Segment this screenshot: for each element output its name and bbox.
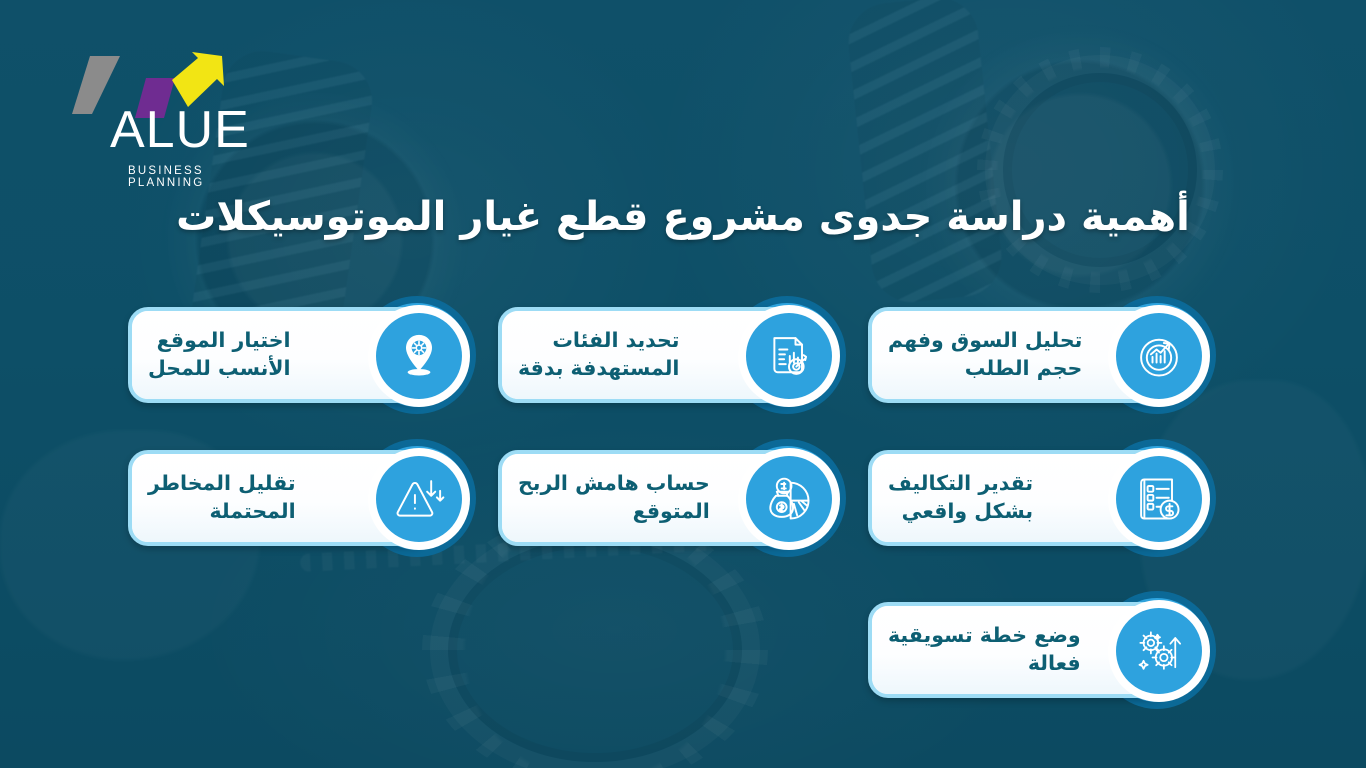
card-label-line1: حساب هامش الربح [518, 470, 710, 498]
card-label-line1: وضع خطة تسويقية [888, 622, 1081, 650]
pie-money-bag-icon [746, 456, 832, 542]
card-label: وضع خطة تسويقيةفعالة [884, 602, 1108, 698]
chart-donut-bars-icon [1116, 313, 1202, 399]
benefit-card-marketing-plan[interactable]: وضع خطة تسويقيةفعالة [868, 591, 1216, 709]
gears-up-arrow-icon [1116, 608, 1202, 694]
infographic-canvas: ALUE BUSINESS PLANNING أهمية دراسة جدوى … [0, 0, 1366, 768]
card-label: تحديد الفئاتالمستهدفة بدقة [514, 307, 738, 403]
card-label-line1: تقليل المخاطر [148, 470, 296, 498]
card-label-line2: المتوقع [518, 498, 710, 526]
brand-logo: ALUE BUSINESS PLANNING [72, 52, 272, 167]
card-label: تقليل المخاطرالمحتملة [144, 450, 368, 546]
card-label: حساب هامش الربحالمتوقع [514, 450, 738, 546]
document-target-icon [746, 313, 832, 399]
card-label-line1: تقدير التكاليف [888, 470, 1033, 498]
checklist-dollar-icon [1116, 456, 1202, 542]
card-label: تحليل السوق وفهمحجم الطلب [884, 307, 1108, 403]
benefit-card-location-choice[interactable]: اختيار الموقعالأنسب للمحل [128, 296, 476, 414]
card-label-line2: بشكل واقعي [888, 498, 1033, 526]
page-title: أهمية دراسة جدوى مشروع قطع غيار الموتوسي… [0, 192, 1366, 242]
card-label-line2: المستهدفة بدقة [518, 355, 679, 383]
benefit-card-target-audience[interactable]: تحديد الفئاتالمستهدفة بدقة [498, 296, 846, 414]
card-label-line1: تحليل السوق وفهم [888, 327, 1082, 355]
benefit-card-market-analysis[interactable]: تحليل السوق وفهمحجم الطلب [868, 296, 1216, 414]
card-label-line1: تحديد الفئات [518, 327, 679, 355]
map-pin-gear-icon [376, 313, 462, 399]
card-label-line1: اختيار الموقع [148, 327, 291, 355]
card-label-line2: الأنسب للمحل [148, 355, 291, 383]
logo-wordmark: ALUE [110, 104, 250, 156]
card-label-line2: حجم الطلب [888, 355, 1082, 383]
card-label: اختيار الموقعالأنسب للمحل [144, 307, 368, 403]
card-label-line2: فعالة [888, 650, 1081, 678]
card-label: تقدير التكاليفبشكل واقعي [884, 450, 1108, 546]
benefit-card-risk-reduction[interactable]: تقليل المخاطرالمحتملة [128, 439, 476, 557]
card-label-line2: المحتملة [148, 498, 296, 526]
logo-tagline: BUSINESS PLANNING [128, 165, 272, 189]
benefit-card-profit-margin[interactable]: حساب هامش الربحالمتوقع [498, 439, 846, 557]
bg-sprocket-top [985, 55, 1215, 285]
benefit-card-cost-estimation[interactable]: تقدير التكاليفبشكل واقعي [868, 439, 1216, 557]
warning-down-arrows-icon [376, 456, 462, 542]
